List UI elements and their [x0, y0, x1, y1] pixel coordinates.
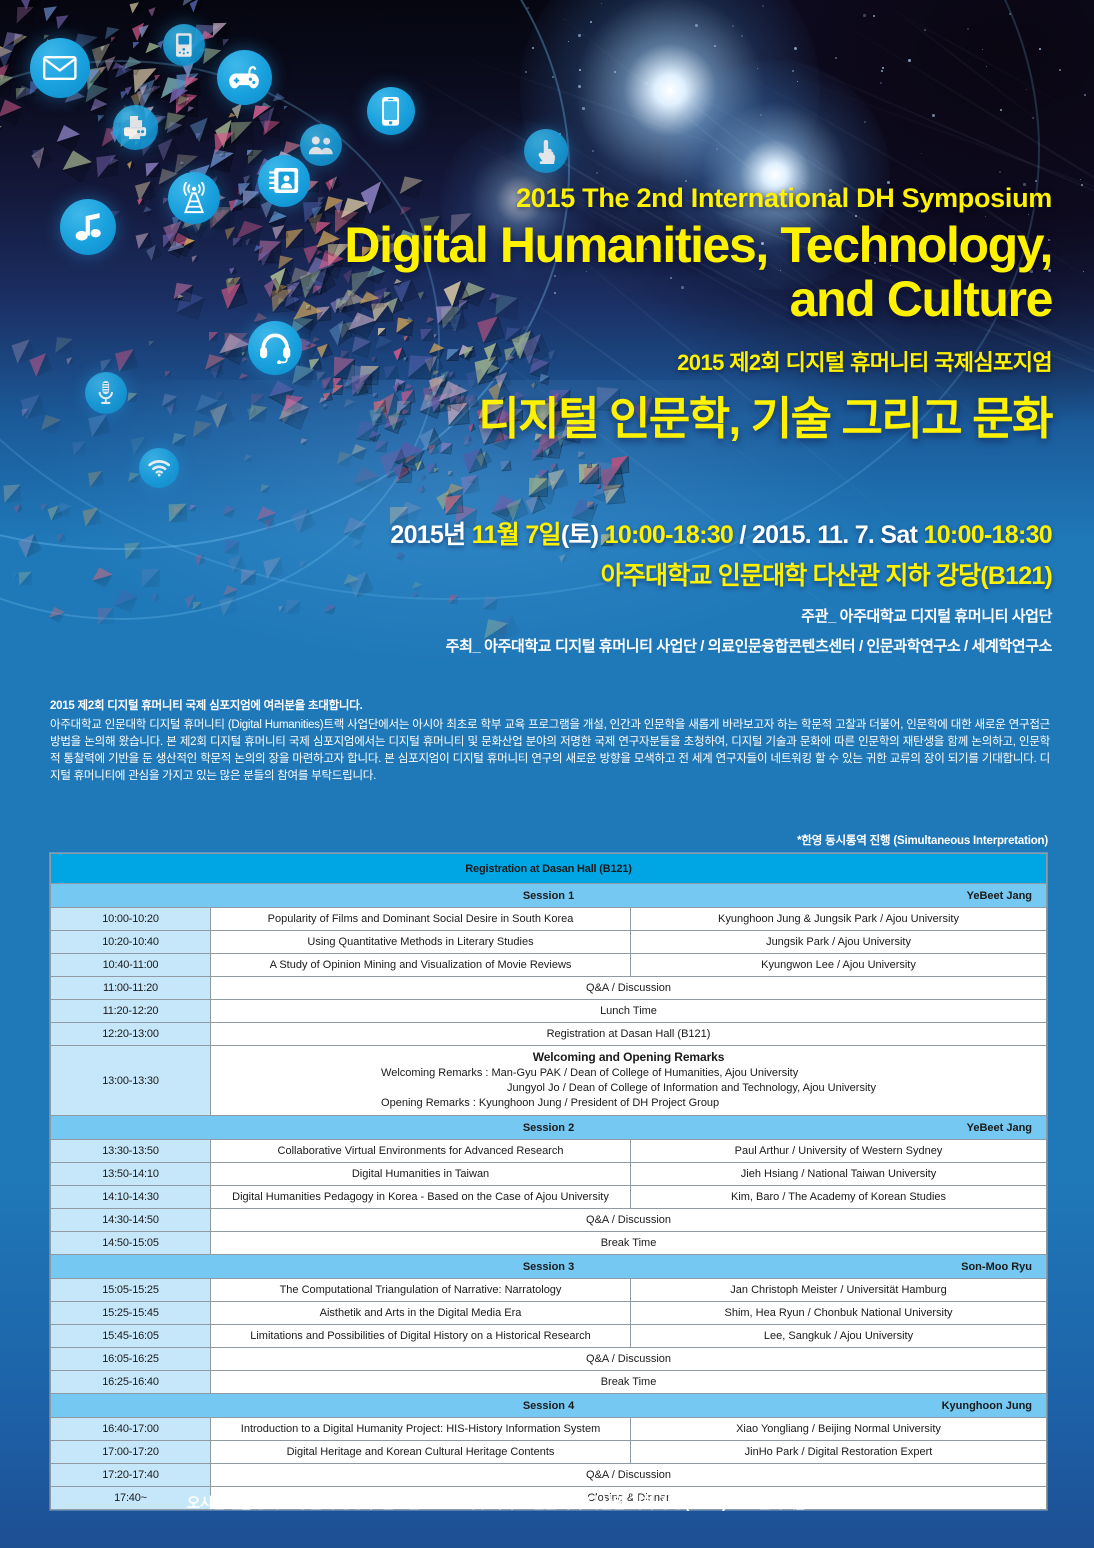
confetti-cube [128, 392, 138, 402]
event-hosted-by: 주최_ 아주대학교 디지털 휴머니티 사업단 / 의료인문융합콘텐츠센터 / 인… [390, 635, 1052, 656]
confetti-cube [164, 371, 170, 377]
poster-headline: 2015 The 2nd International DH Symposium … [344, 183, 1052, 447]
row-title: Collaborative Virtual Environments for A… [211, 1140, 631, 1163]
sparkle [685, 180, 687, 182]
sparkle [1009, 13, 1011, 15]
confetti-cube [264, 120, 281, 138]
row-fullspan: Q&A / Discussion [211, 977, 1047, 1000]
confetti-cube [263, 557, 285, 579]
confetti-cube [285, 229, 303, 249]
confetti-cube [173, 283, 193, 302]
confetti-cube [281, 409, 295, 423]
contact-book-icon [258, 155, 310, 207]
session-header-row: Session 4Kyunghoon Jung [51, 1394, 1047, 1418]
touch-pointer-icon [524, 129, 568, 173]
confetti-cube [587, 463, 593, 468]
confetti-cube [578, 451, 586, 460]
confetti-cube [21, 408, 29, 416]
sparkle [732, 25, 734, 27]
microphone-icon [85, 372, 127, 414]
sparkle [741, 35, 743, 37]
date-kr-prefix: 2015년 [390, 521, 471, 549]
row-title: Aisthetik and Arts in the Digital Media … [211, 1302, 631, 1325]
confetti-cube [583, 466, 600, 484]
table-row: 14:50-15:05Break Time [51, 1232, 1047, 1255]
confetti-cube [88, 414, 111, 437]
row-time: 14:30-14:50 [51, 1209, 211, 1232]
confetti-cube [299, 560, 306, 567]
confetti-cube [434, 468, 439, 473]
confetti-cube [101, 359, 113, 371]
confetti-cube [316, 371, 325, 380]
session-header-row: Session 3Son-Moo Ryu [51, 1255, 1047, 1279]
row-fullspan: Break Time [211, 1371, 1047, 1394]
music-player-icon [163, 24, 205, 66]
invitation-body: 아주대학교 인문대학 디지털 휴머니티 (Digital Humanities)… [50, 717, 1050, 785]
confetti-cube [72, 441, 86, 455]
sparkle [932, 114, 935, 117]
confetti-cube [203, 48, 221, 67]
sparkle [716, 148, 718, 150]
confetti-cube [313, 286, 323, 296]
directions-label: 오시는 길_ [187, 1496, 250, 1512]
sparkle [863, 14, 866, 17]
row-title: A Study of Opinion Mining and Visualizat… [211, 954, 631, 977]
contact-label: 연락처_ [757, 1496, 803, 1512]
date-en-time: 10:00-18:30 [923, 521, 1052, 549]
confetti-cube [316, 250, 322, 256]
confetti-cube [460, 474, 479, 493]
confetti-cube [306, 305, 311, 310]
sparkle [881, 70, 883, 72]
confetti-cube [189, 504, 196, 511]
confetti-cube [224, 539, 239, 554]
remarks-heading: Welcoming and Opening Remarks [217, 1050, 1040, 1064]
sparkle [695, 24, 698, 27]
confetti-cube [300, 438, 307, 445]
row-time: 13:00-13:30 [51, 1046, 211, 1116]
confetti-cube [105, 27, 120, 42]
confetti-cube [142, 569, 160, 587]
session-chair: YeBeet Jang [920, 889, 1040, 903]
row-title: Introduction to a Digital Humanity Proje… [211, 1418, 631, 1441]
row-fullspan: Q&A / Discussion [211, 1348, 1047, 1371]
confetti-cube [240, 570, 256, 586]
confetti-cube [247, 150, 253, 156]
session-label: Session 3 [57, 1260, 920, 1274]
session-header-cell: Session 2YeBeet Jang [51, 1116, 1047, 1140]
sparkle [578, 85, 581, 88]
sparkle [792, 70, 794, 72]
poster-title-line-2: and Culture [344, 272, 1052, 326]
table-row: 11:20-12:20Lunch Time [51, 1000, 1047, 1023]
row-time: 14:50-15:05 [51, 1232, 211, 1255]
confetti-cube [260, 485, 269, 494]
table-row: 16:05-16:25Q&A / Discussion [51, 1348, 1047, 1371]
table-row: 13:30-13:50Collaborative Virtual Environ… [51, 1140, 1047, 1163]
remarks-line: Jungyol Jo / Dean of College of Informat… [381, 1081, 876, 1096]
row-presenter: Kim, Baro / The Academy of Korean Studie… [631, 1186, 1047, 1209]
row-time: 15:05-15:25 [51, 1279, 211, 1302]
date-en: 2015. 11. 7. [752, 521, 881, 549]
sparkle [578, 34, 581, 37]
session-header-row: Session 2YeBeet Jang [51, 1116, 1047, 1140]
smartphone-icon [367, 87, 415, 135]
row-presenter: Xiao Yongliang / Beijing Normal Universi… [631, 1418, 1047, 1441]
session-header-cell: Session 4Kyunghoon Jung [51, 1394, 1047, 1418]
sparkle [835, 57, 837, 59]
confetti-cube [55, 337, 73, 355]
row-time: 15:25-15:45 [51, 1302, 211, 1325]
confetti-cube [97, 154, 119, 177]
invitation-greeting: 2015 제2회 디지털 휴머니티 국제 심포지엄에 여러분을 초대합니다. [50, 698, 1050, 715]
sparkle [864, 121, 866, 123]
confetti-cube [528, 478, 548, 498]
sparkle [986, 66, 987, 67]
confetti-cube [232, 238, 242, 248]
row-fullspan: Q&A / Discussion [211, 1464, 1047, 1487]
session-header-cell: Session 1YeBeet Jang [51, 884, 1047, 908]
session-chair: Kyunghoon Jung [920, 1399, 1040, 1413]
game-controller-icon [217, 50, 272, 105]
table-row: 14:30-14:50Q&A / Discussion [51, 1209, 1047, 1232]
headset-icon [248, 321, 302, 375]
symposium-kicker: 2015 The 2nd International DH Symposium [344, 183, 1052, 214]
radio-tower-icon [168, 172, 220, 224]
confetti-cube [88, 471, 104, 487]
confetti-cube [243, 191, 260, 210]
sparkle [1000, 109, 1002, 111]
sparkle [967, 28, 969, 30]
confetti-cube [213, 23, 227, 37]
event-details: 2015년 11월 7일(토) 10:00-18:30 / 2015. 11. … [390, 515, 1052, 656]
confetti-cube [223, 39, 231, 47]
table-row: 10:20-10:40Using Quantitative Methods in… [51, 931, 1047, 954]
mail-icon [30, 38, 90, 98]
confetti-cube [284, 105, 288, 109]
schedule-table: Registration at Dasan Hall (B121)Session… [50, 853, 1047, 1510]
row-fullspan: Registration at Dasan Hall (B121) [211, 1023, 1047, 1046]
contact-text: T. 031-219-3389 [807, 1496, 907, 1512]
row-time: 16:05-16:25 [51, 1348, 211, 1371]
session-label: Session 2 [57, 1121, 920, 1135]
confetti-cube [163, 232, 176, 247]
table-row: 17:00-17:20Digital Heritage and Korean C… [51, 1441, 1047, 1464]
symposium-kicker-korean: 2015 제2회 디지털 휴머니티 국제심포지엄 [344, 345, 1052, 377]
confetti-cube [228, 278, 235, 284]
row-presenter: Kyungwon Lee / Ajou University [631, 954, 1047, 977]
confetti-cube [292, 365, 314, 387]
table-row: 15:45-16:05Limitations and Possibilities… [51, 1325, 1047, 1348]
confetti-cube [115, 349, 138, 372]
confetti-cube [40, 503, 48, 511]
confetti-cube [501, 460, 512, 470]
sparkle [714, 45, 716, 47]
row-fullspan: Lunch Time [211, 1000, 1047, 1023]
table-row: 15:25-15:45Aisthetik and Arts in the Dig… [51, 1302, 1047, 1325]
confetti-cube [33, 149, 42, 158]
row-time: 10:40-11:00 [51, 954, 211, 977]
remarks-line: Welcoming Remarks : Man-Gyu PAK / Dean o… [381, 1066, 876, 1081]
confetti-cube [191, 255, 198, 263]
sparkle [579, 69, 581, 71]
confetti-cube [303, 201, 326, 223]
confetti-cube [187, 106, 194, 114]
sparkle [1039, 48, 1041, 50]
sparkle [908, 59, 911, 62]
session-header-cell: Session 3Son-Moo Ryu [51, 1255, 1047, 1279]
row-presenter: Shim, Hea Ryun / Chonbuk National Univer… [631, 1302, 1047, 1325]
row-time: 16:40-17:00 [51, 1418, 211, 1441]
row-presenter: Jan Christoph Meister / Universität Hamb… [631, 1279, 1047, 1302]
confetti-cube [18, 571, 32, 585]
event-managed-by: 주관_ 아주대학교 디지털 휴머니티 사업단 [390, 605, 1052, 626]
table-row: 17:20-17:40Q&A / Discussion [51, 1464, 1047, 1487]
table-row: 12:20-13:00Registration at Dasan Hall (B… [51, 1023, 1047, 1046]
row-title: Digital Humanities in Taiwan [211, 1163, 631, 1186]
confetti-cube [149, 340, 154, 345]
confetti-cube [124, 542, 141, 559]
row-title: Digital Heritage and Korean Cultural Her… [211, 1441, 631, 1464]
event-date-line: 2015년 11월 7일(토) 10:00-18:30 / 2015. 11. … [390, 515, 1052, 551]
row-title: The Computational Triangulation of Narra… [211, 1279, 631, 1302]
confetti-cube [448, 471, 453, 476]
row-time: 10:20-10:40 [51, 931, 211, 954]
row-title: Digital Humanities Pedagogy in Korea - B… [211, 1186, 631, 1209]
row-title: Limitations and Possibilities of Digital… [211, 1325, 631, 1348]
sparkle [873, 15, 875, 17]
date-separator: / [733, 521, 752, 549]
confetti-cube [3, 484, 21, 502]
remarks-row: 13:00-13:30Welcoming and Opening Remarks… [51, 1046, 1047, 1116]
date-en-day: Sat [880, 521, 923, 549]
table-row: 16:25-16:40Break Time [51, 1371, 1047, 1394]
confetti-cube [98, 607, 114, 623]
date-kr-time: 10:00-18:30 [605, 521, 734, 549]
table-row: 13:50-14:10Digital Humanities in TaiwanJ… [51, 1163, 1047, 1186]
users-icon [300, 124, 342, 166]
session-label: Session 4 [57, 1399, 920, 1413]
confetti-cube [252, 106, 269, 122]
poster-title-line-1: Digital Humanities, Technology, [344, 218, 1052, 272]
table-row: 10:40-11:00A Study of Opinion Mining and… [51, 954, 1047, 977]
row-presenter: Jungsik Park / Ajou University [631, 931, 1047, 954]
wifi-icon [139, 448, 179, 488]
date-kr-month: 11월 [472, 521, 526, 549]
printer-icon [113, 105, 158, 150]
confetti-cube [169, 503, 188, 522]
confetti-cube [444, 495, 462, 515]
date-kr-day: 7일 [525, 521, 561, 549]
table-row: 15:05-15:25The Computational Triangulati… [51, 1279, 1047, 1302]
row-time: 15:45-16:05 [51, 1325, 211, 1348]
confetti-cube [208, 332, 217, 341]
remarks-cell: Welcoming and Opening RemarksWelcoming R… [211, 1046, 1047, 1116]
invitation-text: 2015 제2회 디지털 휴머니티 국제 심포지엄에 여러분을 초대합니다. 아… [50, 698, 1050, 785]
schedule-banner-row: Registration at Dasan Hall (B121) [51, 854, 1047, 884]
row-presenter: Kyunghoon Jung & Jungsik Park / Ajou Uni… [631, 908, 1047, 931]
row-time: 14:10-14:30 [51, 1186, 211, 1209]
session-chair: YeBeet Jang [920, 1121, 1040, 1135]
confetti-cube [214, 132, 235, 154]
row-time: 11:20-12:20 [51, 1000, 211, 1023]
simultaneous-interpretation-note: *한영 동시통역 진행 (Simultaneous Interpretation… [797, 832, 1048, 848]
row-fullspan: Break Time [211, 1232, 1047, 1255]
row-time: 10:00-10:20 [51, 908, 211, 931]
row-fullspan: Q&A / Discussion [211, 1209, 1047, 1232]
session-header-row: Session 1YeBeet Jang [51, 884, 1047, 908]
sparkle [794, 47, 797, 50]
confetti-cube [130, 436, 148, 454]
table-row: 16:40-17:00Introduction to a Digital Hum… [51, 1418, 1047, 1441]
event-venue: 아주대학교 인문대학 다산관 지하 강당(B121) [390, 556, 1052, 592]
date-kr-weekday: (토) [561, 521, 605, 549]
registration-banner: Registration at Dasan Hall (B121) [51, 854, 1047, 884]
sparkle [582, 107, 585, 110]
row-time: 16:25-16:40 [51, 1371, 211, 1394]
confetti-cube [129, 472, 140, 483]
row-time: 17:00-17:20 [51, 1441, 211, 1464]
directions-text: 경기도 수원시 영통구 월드컵로 206 아주대학교 인문대학 다산관 지하 강… [254, 1496, 727, 1512]
row-presenter: Lee, Sangkuk / Ajou University [631, 1325, 1047, 1348]
row-time: 17:20-17:40 [51, 1464, 211, 1487]
confetti-cube [16, 88, 26, 99]
confetti-cube [193, 421, 212, 440]
row-title: Popularity of Films and Dominant Social … [211, 908, 631, 931]
session-label: Session 1 [57, 889, 920, 903]
confetti-cube [532, 448, 543, 461]
sparkle [1084, 94, 1086, 96]
row-time: 12:20-13:00 [51, 1023, 211, 1046]
confetti-cube [154, 74, 161, 81]
confetti-cube [137, 198, 144, 205]
sparkle [1059, 69, 1061, 71]
confetti-cube [56, 15, 70, 29]
table-row: 11:00-11:20Q&A / Discussion [51, 977, 1047, 1000]
footer-separator: / [730, 1496, 754, 1512]
remarks-line: Opening Remarks : Kyunghoon Jung / Presi… [381, 1096, 876, 1111]
row-presenter: JinHo Park / Digital Restoration Expert [631, 1441, 1047, 1464]
row-time: 13:50-14:10 [51, 1163, 211, 1186]
row-time: 11:00-11:20 [51, 977, 211, 1000]
table-row: 10:00-10:20Popularity of Films and Domin… [51, 908, 1047, 931]
confetti-cube [597, 484, 602, 489]
confetti-cube [146, 162, 161, 176]
row-title: Using Quantitative Methods in Literary S… [211, 931, 631, 954]
music-note-icon [60, 199, 116, 255]
confetti-cube [244, 454, 252, 462]
confetti-cube [286, 599, 301, 614]
row-presenter: Paul Arthur / University of Western Sydn… [631, 1140, 1047, 1163]
poster-footer: 오시는 길_ 경기도 수원시 영통구 월드컵로 206 아주대학교 인문대학 다… [0, 1492, 1094, 1513]
sparkle [552, 76, 554, 78]
session-chair: Son-Moo Ryu [920, 1260, 1040, 1274]
table-row: 14:10-14:30Digital Humanities Pedagogy i… [51, 1186, 1047, 1209]
row-presenter: Jieh Hsiang / National Taiwan University [631, 1163, 1047, 1186]
confetti-cube [133, 42, 140, 49]
confetti-cube [279, 605, 286, 612]
poster-title-korean: 디지털 인문학, 기술 그리고 문화 [344, 382, 1052, 447]
row-time: 13:30-13:50 [51, 1140, 211, 1163]
